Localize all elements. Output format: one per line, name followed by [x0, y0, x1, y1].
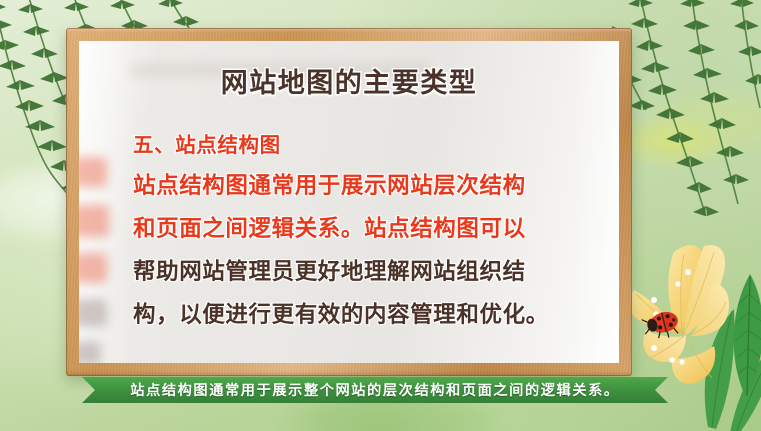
ghost-text-left-5	[79, 341, 101, 363]
body-line-2: 站点结构图通常用于展示网站层次结构	[133, 165, 593, 208]
slide-stage: 网站地图的主要类型 五、站点结构图 站点结构图通常用于展示网站层次结构 和页面之…	[0, 0, 761, 431]
ghost-text-left-3	[79, 253, 107, 283]
whiteboard-panel: 网站地图的主要类型 五、站点结构图 站点结构图通常用于展示网站层次结构 和页面之…	[66, 28, 632, 376]
body-line-3: 和页面之间逻辑关系。站点结构图可以	[133, 208, 593, 251]
ghost-text-left-4	[79, 299, 107, 327]
body-text-block: 五、站点结构图 站点结构图通常用于展示网站层次结构 和页面之间逻辑关系。站点结构…	[133, 125, 593, 337]
subtitle-ribbon: 站点结构图通常用于展示整个网站的层次结构和页面之间的逻辑关系。	[82, 377, 668, 403]
subtitle-text: 站点结构图通常用于展示整个网站的层次结构和页面之间的逻辑关系。	[130, 380, 619, 400]
page-title: 网站地图的主要类型	[79, 70, 619, 97]
body-line-5: 构，以便进行更有效的内容管理和优化。	[133, 294, 593, 337]
body-line-4: 帮助网站管理员更好地理解网站组织结	[133, 251, 593, 294]
board-surface: 网站地图的主要类型 五、站点结构图 站点结构图通常用于展示网站层次结构 和页面之…	[79, 41, 619, 363]
ghost-text-left-2	[79, 205, 109, 237]
ghost-text-left-1	[79, 157, 107, 187]
body-line-1: 五、站点结构图	[133, 125, 593, 165]
